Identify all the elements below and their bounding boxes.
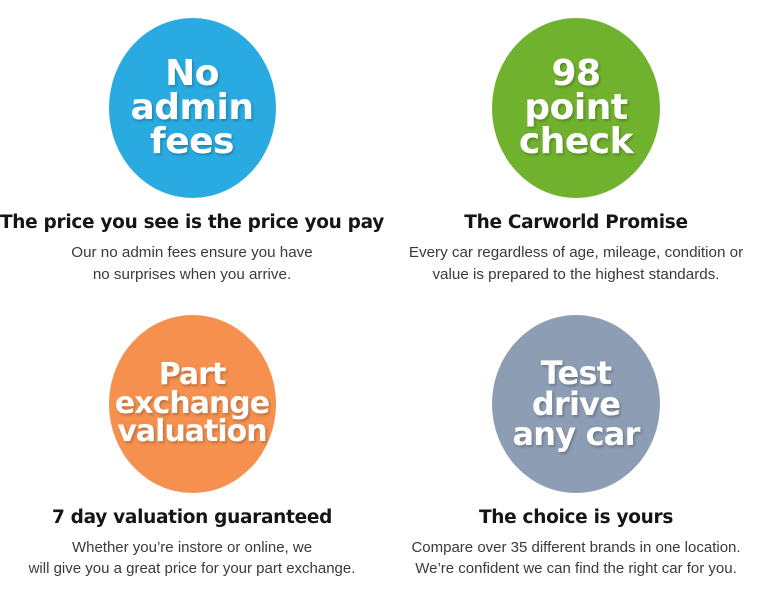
benefit-card-part-exchange: Part exchange valuation 7 day valuation … [0, 307, 384, 614]
badge-point-check: 98 point check [492, 18, 660, 198]
badge-no-admin-fees: No admin fees [109, 18, 276, 198]
benefit-heading: 7 day valuation guaranteed [52, 507, 332, 528]
benefit-body: Whether you’re instore or online, we wil… [29, 537, 356, 580]
benefit-body: Our no admin fees ensure you have no sur… [71, 242, 312, 285]
benefit-card-test-drive: Test drive any car The choice is yours C… [384, 307, 768, 614]
benefit-body: Every car regardless of age, mileage, co… [409, 242, 743, 285]
benefit-body: Compare over 35 different brands in one … [411, 537, 740, 580]
benefit-heading: The Carworld Promise [464, 212, 687, 233]
badge-label: 98 point check [492, 57, 660, 160]
benefits-grid: No admin fees The price you see is the p… [0, 0, 768, 614]
badge-part-exchange: Part exchange valuation [109, 315, 276, 493]
benefit-card-point-check: 98 point check The Carworld Promise Ever… [384, 0, 768, 307]
badge-label: Test drive any car [492, 358, 660, 449]
badge-label: No admin fees [109, 57, 276, 160]
benefit-heading: The price you see is the price you pay [0, 212, 384, 233]
benefit-card-no-admin-fees: No admin fees The price you see is the p… [0, 0, 384, 307]
benefit-heading: The choice is yours [479, 507, 673, 528]
badge-test-drive: Test drive any car [492, 315, 660, 493]
badge-label: Part exchange valuation [109, 361, 276, 447]
